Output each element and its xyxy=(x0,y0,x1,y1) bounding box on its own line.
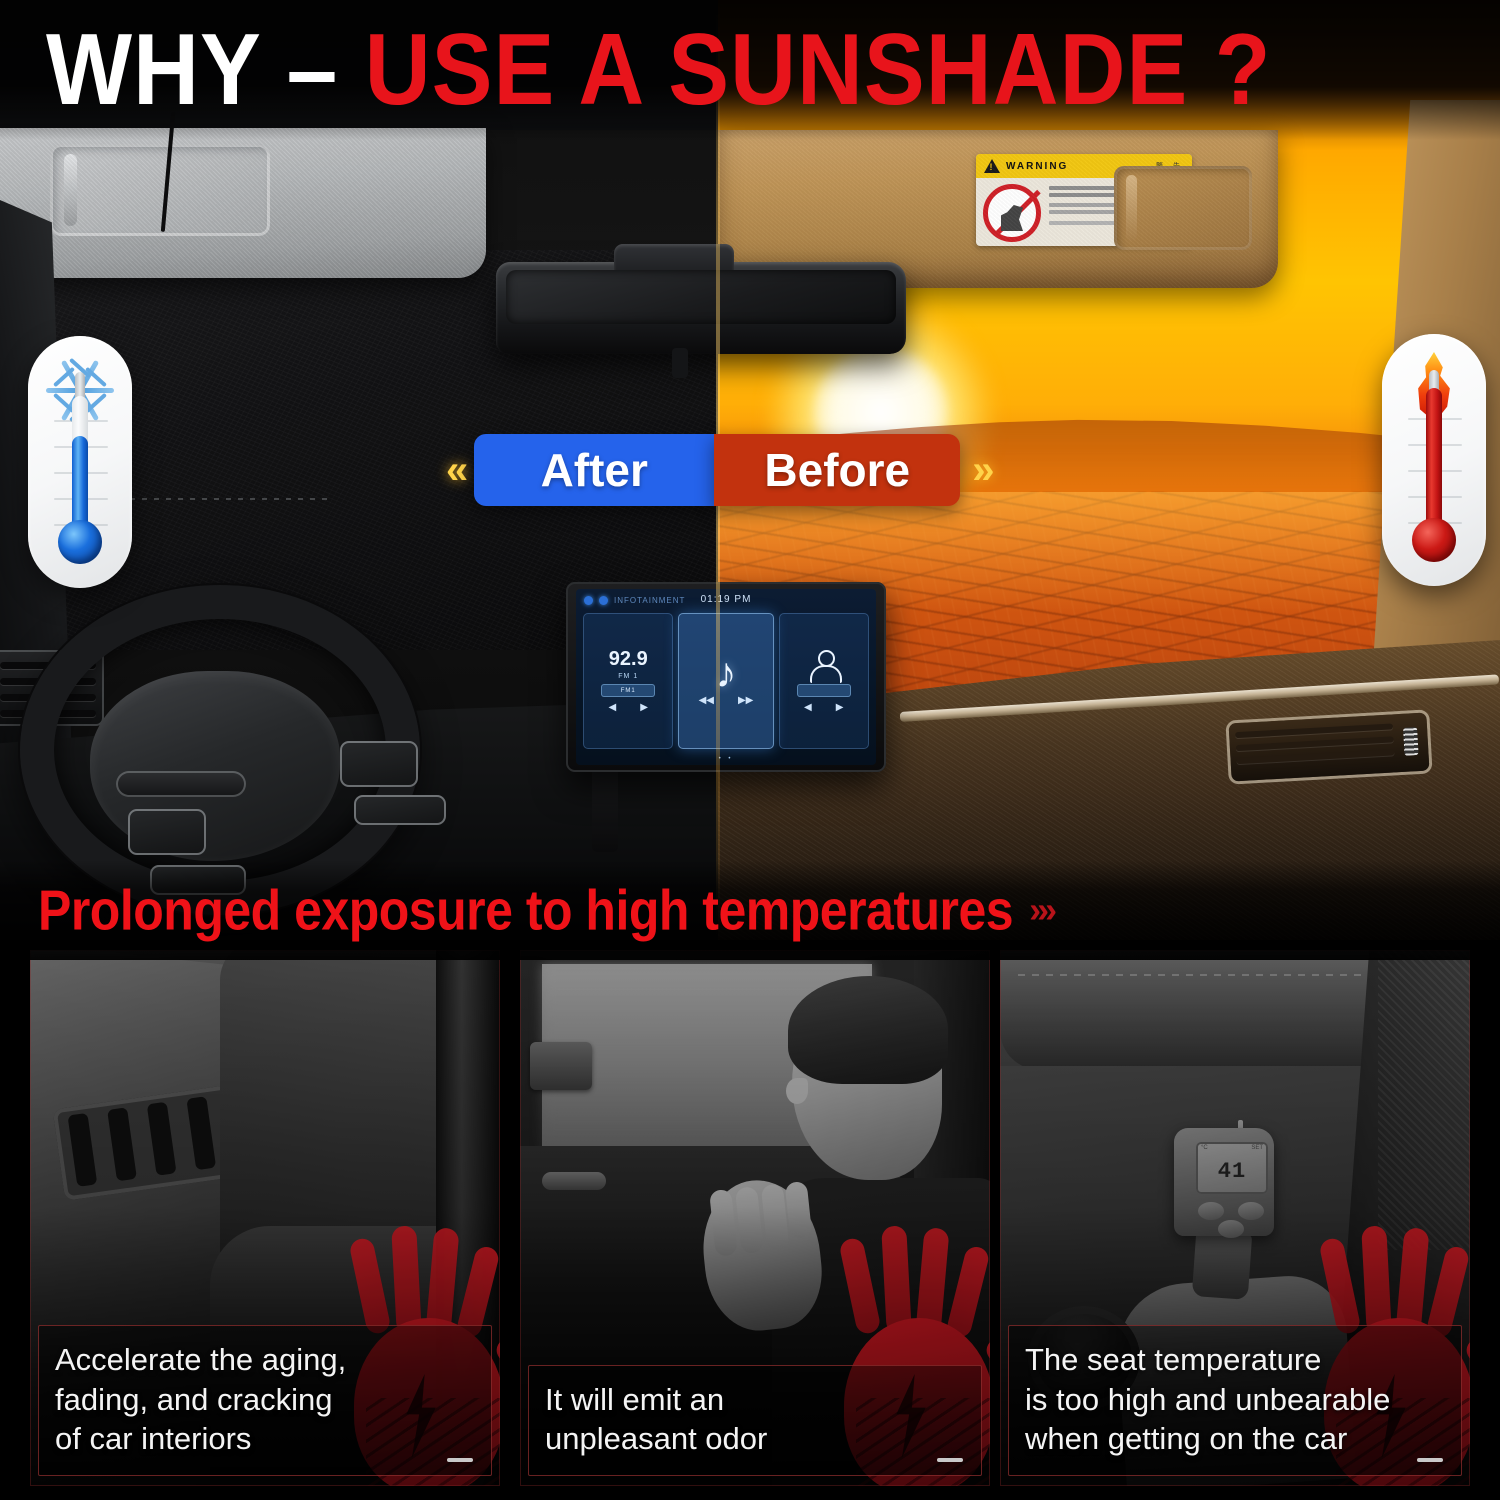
mirror-glass xyxy=(506,270,896,324)
phone-status-chip[interactable] xyxy=(797,684,851,697)
cold-thermometer xyxy=(28,336,132,588)
mirror-stem xyxy=(672,348,688,378)
infotainment-screen[interactable]: INFOTAINMENT 01:19 PM 92.9 FM 1 FM1 ◀ ▶ xyxy=(576,589,876,765)
steering-button-right-lower xyxy=(354,795,446,825)
media-transport-controls: ◀◀ ▶▶ xyxy=(699,696,754,706)
media-next-icon[interactable]: ▶▶ xyxy=(738,696,753,706)
panel-caption-text: It will emit an unpleasant odor xyxy=(545,1380,965,1459)
panel-caption-box: Accelerate the aging, fading, and cracki… xyxy=(38,1325,492,1476)
radio-next-icon[interactable]: ▶ xyxy=(640,703,648,713)
media-tile[interactable]: ♪ ◀◀ ▶▶ xyxy=(678,613,773,749)
screen-clock: 01:19 PM xyxy=(576,594,876,605)
before-badge[interactable]: Before xyxy=(714,434,960,506)
panel-aging: Accelerate the aging, fading, and cracki… xyxy=(30,950,500,1486)
air-vent-right xyxy=(1229,713,1430,782)
media-prev-icon[interactable]: ◀◀ xyxy=(699,696,714,706)
caption-dash-mark xyxy=(447,1458,473,1462)
page-title-white: WHY – xyxy=(46,13,365,126)
midline-chevrons-icon: ››› xyxy=(1029,889,1053,931)
panel-caption-box: It will emit an unpleasant odor xyxy=(528,1365,982,1476)
steering-button-left xyxy=(128,809,206,855)
warning-triangle-icon xyxy=(984,159,1000,173)
page-title: WHY – USE A SUNSHADE ? xyxy=(46,19,1271,120)
panel-odor: It will emit an unpleasant odor xyxy=(520,950,990,1486)
screen-tiles: 92.9 FM 1 FM1 ◀ ▶ ♪ ◀◀ ▶▶ xyxy=(583,613,869,749)
title-bar: WHY – USE A SUNSHADE ? xyxy=(0,0,1500,140)
sun-visor-grey xyxy=(0,128,486,278)
consequences-panels: Accelerate the aging, fading, and cracki… xyxy=(0,940,1500,1500)
panel-caption-text: The seat temperature is too high and unb… xyxy=(1025,1340,1445,1459)
product-infographic: WARNING 警 告 xyxy=(0,0,1500,1500)
warning-label-header: WARNING 警 告 xyxy=(976,154,1192,178)
phone-prev-icon[interactable]: ◀ xyxy=(804,703,812,713)
warning-label-text-lines xyxy=(1049,184,1185,242)
warning-label-cjk: 警 告 xyxy=(1156,161,1184,171)
no-child-seat-icon xyxy=(983,184,1041,242)
hot-thermometer xyxy=(1382,334,1486,586)
warning-label-body xyxy=(976,178,1192,246)
phone-next-icon[interactable]: ▶ xyxy=(836,703,844,713)
visor-pocket-left xyxy=(50,144,270,236)
caption-dash-mark xyxy=(1417,1458,1443,1462)
radio-tile[interactable]: 92.9 FM 1 FM1 ◀ ▶ xyxy=(583,613,673,749)
hot-thermometer-mercury xyxy=(1426,388,1442,534)
phone-nav-controls: ◀ ▶ xyxy=(804,703,843,713)
radio-prev-icon[interactable]: ◀ xyxy=(609,703,617,713)
radio-seek-controls: ◀ ▶ xyxy=(609,703,648,713)
panel-seat-temp: °CSET 41 The seat temperature is too hig… xyxy=(1000,950,1470,1486)
before-after-badges: « After Before » xyxy=(446,434,989,506)
person-icon xyxy=(809,650,839,680)
steering-button-right xyxy=(340,741,418,787)
infotainment-unit: INFOTAINMENT 01:19 PM 92.9 FM 1 FM1 ◀ ▶ xyxy=(566,582,886,772)
chevron-left-icon: « xyxy=(446,450,462,490)
midline-headline: Prolonged exposure to high temperatures xyxy=(38,877,1013,943)
turn-signal-stalk xyxy=(116,771,246,797)
chevron-right-icon: » xyxy=(972,450,988,490)
caption-dash-mark xyxy=(937,1458,963,1462)
midline-band: Prolonged exposure to high temperatures … xyxy=(0,860,1500,960)
rearview-mirror xyxy=(496,262,906,354)
page-title-red: USE A SUNSHADE ? xyxy=(365,13,1272,126)
warning-label-word: WARNING xyxy=(1006,161,1068,172)
radio-frequency: 92.9 xyxy=(609,649,648,669)
cold-thermometer-bulb xyxy=(58,520,102,564)
panel-caption-text: Accelerate the aging, fading, and cracki… xyxy=(55,1340,475,1459)
panel-caption-box: The seat temperature is too high and unb… xyxy=(1008,1325,1462,1476)
hero-before-after-split: WARNING 警 告 xyxy=(0,0,1500,940)
hot-thermometer-bulb xyxy=(1412,518,1456,562)
radio-preset-chip[interactable]: FM1 xyxy=(601,684,655,697)
radio-band: FM 1 xyxy=(618,673,638,680)
phone-tile[interactable]: ◀ ▶ xyxy=(779,613,869,749)
visor-pocket-right xyxy=(1114,166,1252,250)
screen-page-dots: • • xyxy=(576,756,876,762)
airbag-warning-label: WARNING 警 告 xyxy=(976,154,1192,246)
after-badge[interactable]: After xyxy=(474,434,714,506)
